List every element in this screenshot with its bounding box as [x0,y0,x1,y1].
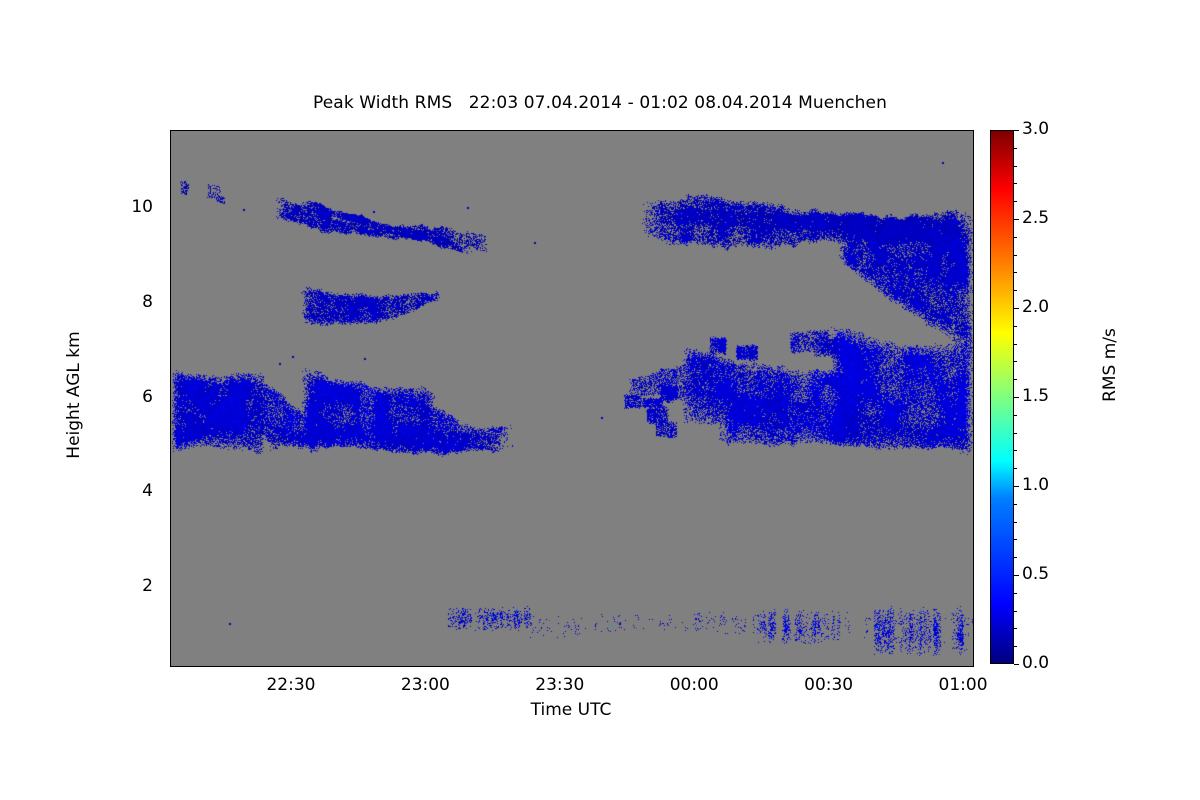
x-tick-top [0,141,1,148]
colorbar[interactable] [990,130,1014,664]
colorbar-minor-tick [1014,646,1017,647]
colorbar-gradient [990,130,1014,664]
y-tick-label: 6 [113,387,153,407]
colorbar-minor-tick [1014,557,1017,558]
colorbar-minor-tick [1014,201,1017,202]
colorbar-tick-label: 0.5 [1022,564,1072,584]
colorbar-minor-tick [1014,468,1017,469]
colorbar-minor-tick [1014,255,1017,256]
colorbar-tick [1014,575,1019,576]
figure-canvas: Peak Width RMS 22:03 07.04.2014 - 01:02 … [0,0,1200,800]
y-tick-label: 10 [113,197,153,217]
colorbar-tick [1014,397,1019,398]
colorbar-tick-label: 2.5 [1022,208,1072,228]
colorbar-minor-tick [1014,433,1017,434]
x-tick-label: 23:30 [515,675,605,695]
colorbar-minor-tick [1014,237,1017,238]
colorbar-minor-tick [1014,379,1017,380]
x-tick-top [0,175,1,182]
x-axis-title: Time UTC [170,700,972,720]
x-tick-top [0,243,1,250]
colorbar-tick-label: 1.0 [1022,475,1072,495]
colorbar-minor-tick [1014,450,1017,451]
colorbar-minor-tick [1014,415,1017,416]
colorbar-minor-tick [1014,148,1017,149]
colorbar-title: RMS m/s [1100,285,1120,445]
colorbar-minor-tick [1014,326,1017,327]
colorbar-minor-tick [1014,183,1017,184]
x-tick [0,236,1,243]
colorbar-minor-tick [1014,539,1017,540]
x-tick [0,66,1,73]
colorbar-minor-tick [1014,522,1017,523]
y-tick-label: 4 [113,481,153,501]
colorbar-tick [1014,486,1019,487]
colorbar-tick [1014,308,1019,309]
x-tick-top [0,73,1,80]
y-tick-label: 8 [113,292,153,312]
x-tick-label: 22:30 [246,675,336,695]
x-tick [0,202,1,209]
colorbar-minor-tick [1014,344,1017,345]
colorbar-tick-label: 2.0 [1022,297,1072,317]
heatmap-canvas [171,131,973,666]
x-tick [0,134,1,141]
colorbar-tick [1014,219,1019,220]
x-tick-label: 01:00 [918,675,1008,695]
colorbar-tick-label: 3.0 [1022,119,1072,139]
x-tick [0,168,1,175]
colorbar-tick-label: 0.0 [1022,653,1072,673]
y-axis-title: Height AGL km [64,295,84,495]
colorbar-tick [1014,130,1019,131]
y-tick-label: 2 [113,576,153,596]
x-tick-top [0,209,1,216]
colorbar-minor-tick [1014,166,1017,167]
colorbar-minor-tick [1014,361,1017,362]
plot-area[interactable] [170,130,974,667]
colorbar-minor-tick [1014,290,1017,291]
colorbar-minor-tick [1014,272,1017,273]
colorbar-minor-tick [1014,628,1017,629]
x-tick-label: 23:00 [380,675,470,695]
x-tick-label: 00:00 [649,675,739,695]
colorbar-minor-tick [1014,611,1017,612]
x-tick-label: 00:30 [784,675,874,695]
colorbar-tick-label: 1.5 [1022,386,1072,406]
colorbar-tick [1014,664,1019,665]
colorbar-minor-tick [1014,593,1017,594]
page-title: Peak Width RMS 22:03 07.04.2014 - 01:02 … [0,93,1200,113]
colorbar-minor-tick [1014,504,1017,505]
